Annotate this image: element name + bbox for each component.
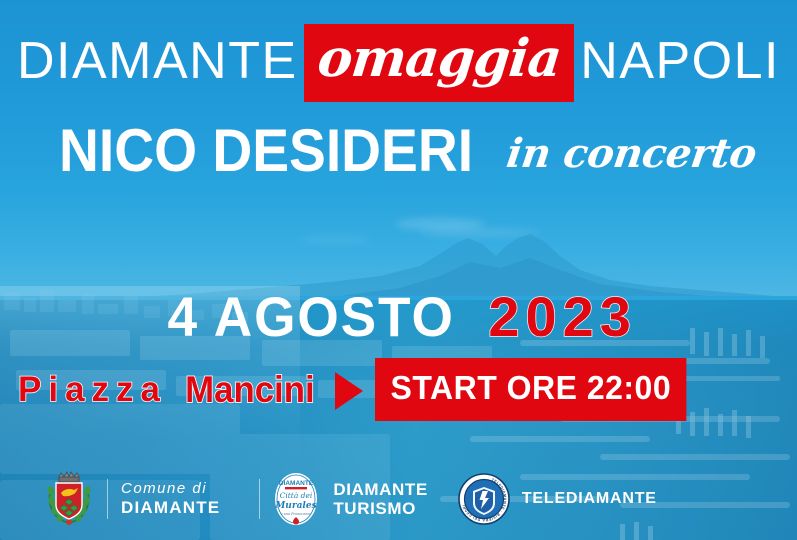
- sponsor-diamante-turismo: DIAMANTE Città dei Murales e una Promozi…: [273, 471, 428, 527]
- badge-script2: Murales: [275, 501, 317, 511]
- divider: [259, 479, 260, 519]
- comune-line1: Comune di: [121, 481, 220, 498]
- venue-line: PiazzaManciniSTART ORE 22:00: [18, 358, 778, 421]
- divider: [107, 479, 108, 519]
- artist-line: NICO DESIDERIin concerto: [0, 120, 797, 182]
- turismo-line2: TURISMO: [333, 499, 428, 518]
- diamante-citta-dei-murales-badge-icon: DIAMANTE Città dei Murales e una Promozi…: [273, 471, 319, 527]
- sponsor-comune-diamante: Comune di DIAMANTE: [44, 471, 220, 527]
- start-time-badge: START ORE 22:00: [375, 358, 687, 421]
- event-date-line: 4 AGOSTO2023: [0, 288, 797, 346]
- omaggia-script-text: omaggia: [314, 28, 563, 90]
- telediamante-seal-icon: TELEDIAMANTE · RIVIERA DEI CEDRI: [458, 473, 510, 525]
- play-triangle-icon: [335, 372, 363, 410]
- badge-script3: e una Promozione: [281, 512, 312, 516]
- badge-script1: Città dei: [280, 491, 313, 500]
- comune-line2: DIAMANTE: [121, 498, 220, 517]
- telediamante-label: TELEDIAMANTE: [522, 490, 657, 508]
- badge-title: DIAMANTE: [279, 480, 314, 487]
- artist-subtitle: in concerto: [503, 123, 761, 185]
- diamante-turismo-label: DIAMANTE TURISMO: [333, 480, 428, 518]
- event-poster: DIAMANTEomaggiaNAPOLI NICO DESIDERIin co…: [0, 0, 797, 540]
- sponsor-footer: Comune di DIAMANTE DIAMANTE Città dei Mu…: [0, 466, 797, 532]
- venue-place-name: Mancini: [185, 366, 314, 414]
- sponsor-telediamante: TELEDIAMANTE · RIVIERA DEI CEDRI TELEDIA…: [458, 473, 657, 525]
- turismo-line1: DIAMANTE: [333, 480, 428, 499]
- artist-name: NICO DESIDERI: [59, 120, 473, 182]
- event-year: 2023: [488, 288, 637, 346]
- comune-diamante-coat-of-arms-icon: [44, 471, 94, 527]
- headline-part2: NAPOLI: [580, 31, 780, 91]
- headline-part1: DIAMANTE: [17, 31, 298, 91]
- omaggia-highlight-box: omaggia: [304, 24, 575, 102]
- venue-place: Piazza: [18, 366, 167, 414]
- text-layer: DIAMANTEomaggiaNAPOLI NICO DESIDERIin co…: [0, 0, 797, 540]
- event-day-month: 4 AGOSTO: [168, 288, 455, 346]
- comune-diamante-label: Comune di DIAMANTE: [121, 481, 220, 517]
- headline-main: DIAMANTEomaggiaNAPOLI: [0, 22, 797, 100]
